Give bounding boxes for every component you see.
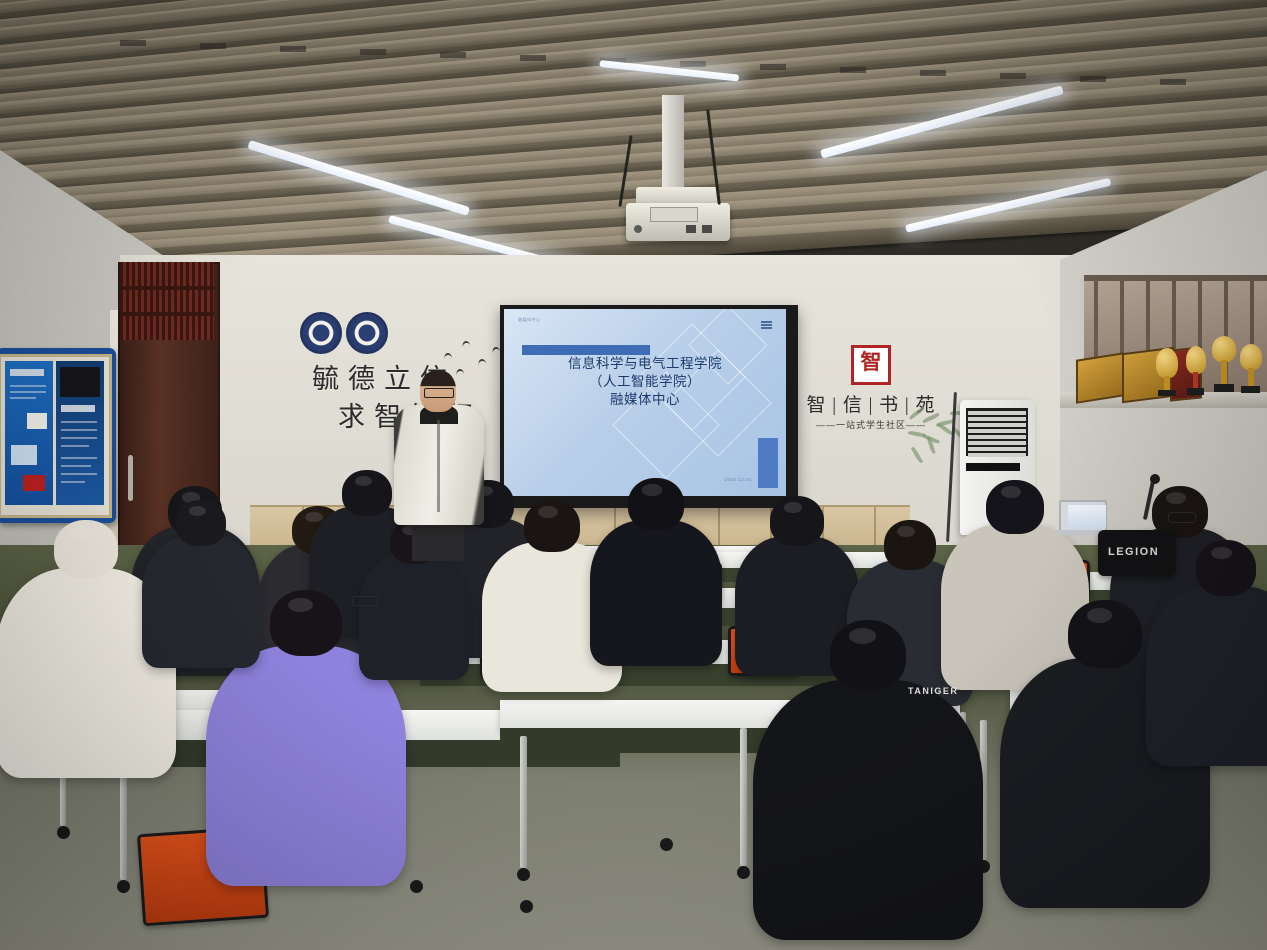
hair-highlight [849,628,876,643]
hair-highlight [1166,492,1186,503]
taniger-jacket-text: TANIGER [908,686,958,696]
hair-highlight [1211,547,1232,559]
hair-highlight [897,526,915,537]
audience-body [590,520,722,666]
hair-highlight [784,502,803,513]
glasses-icon [352,596,378,606]
classroom-photo: 毓德立信 求智笃行 融媒体中心 信息科学与电气工程学院 （人工智能学院） 融媒体… [0,0,1267,950]
table-leg [120,760,127,880]
presenter-zipper [437,420,440,512]
hair-highlight [538,506,558,517]
laptop-screen [1068,505,1106,529]
audience-body [359,554,469,680]
chair-caster [520,900,533,913]
legion-bag-text: LEGION [1108,546,1159,558]
table-caster [117,880,130,893]
presenter-legs [412,519,464,561]
table-caster [517,868,530,881]
table-caster [57,826,70,839]
glasses-icon [424,388,454,398]
hair-highlight [189,506,207,516]
furniture-layer: TANIGER [0,0,1267,950]
hair-highlight [642,484,662,495]
hair-highlight [355,476,373,486]
microphone-head-icon [1150,474,1160,484]
legion-bag: LEGION [1098,530,1176,576]
audience-body [753,680,983,940]
table-caster [737,866,750,879]
chair-caster [410,880,423,893]
hair-highlight [70,527,92,540]
glasses-icon [1168,512,1196,523]
chair-caster [660,838,673,851]
audience-body [206,646,406,886]
audience-body [142,536,260,668]
audience-body [1146,586,1267,766]
table-leg [520,736,527,868]
table-leg [740,728,747,866]
